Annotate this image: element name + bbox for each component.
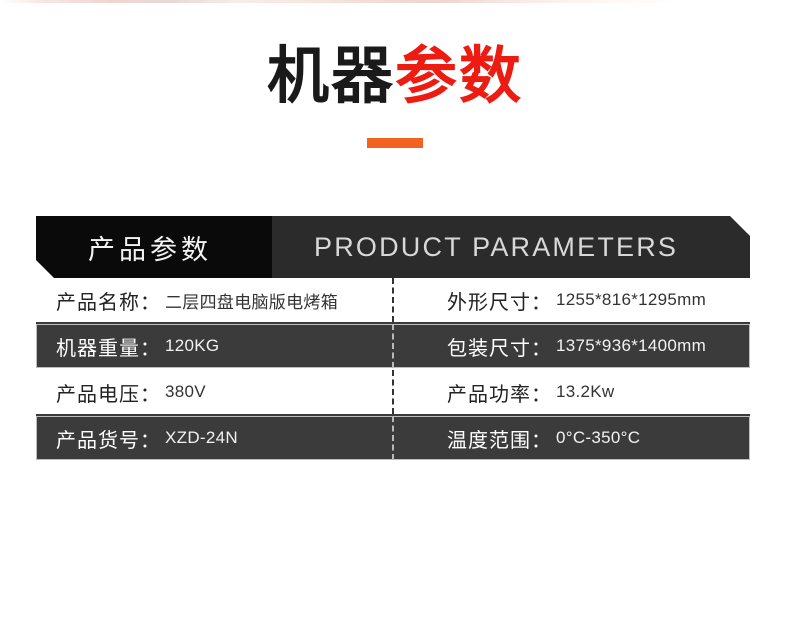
spec-table: 产品名称： 二层四盘电脑版电烤箱 外形尺寸： 1255*816*1295mm 机… bbox=[36, 278, 750, 462]
spec-cell-right: 温度范围： 0°C-350°C bbox=[393, 416, 750, 460]
title-underline-bar bbox=[367, 138, 423, 148]
spec-value: 120KG bbox=[165, 336, 219, 356]
spec-label: 包装尺寸： bbox=[447, 332, 552, 361]
banner-left-label: 产品参数 bbox=[88, 228, 212, 267]
banner-left-panel: 产品参数 bbox=[36, 216, 272, 278]
column-divider bbox=[392, 278, 394, 322]
spec-label: 产品功率： bbox=[447, 378, 552, 407]
banner-right-label: PRODUCT PARAMETERS bbox=[314, 232, 678, 263]
table-row: 产品名称： 二层四盘电脑版电烤箱 外形尺寸： 1255*816*1295mm bbox=[36, 278, 750, 324]
table-row: 产品货号： XZD-24N 温度范围： 0°C-350°C bbox=[36, 416, 750, 462]
top-edge-sliver bbox=[0, 0, 790, 3]
column-divider bbox=[392, 416, 394, 460]
spec-cell-right: 外形尺寸： 1255*816*1295mm bbox=[393, 278, 750, 322]
page-title-text: 机器参数 bbox=[0, 46, 790, 108]
spec-label: 产品货号： bbox=[56, 424, 161, 453]
spec-label: 外形尺寸： bbox=[447, 286, 552, 315]
page-title: 机器参数 bbox=[0, 46, 790, 148]
spec-label: 机器重量： bbox=[56, 332, 161, 361]
table-row: 产品电压： 380V 产品功率： 13.2Kw bbox=[36, 370, 750, 416]
spec-label: 温度范围： bbox=[447, 424, 552, 453]
spec-cell-left: 产品名称： 二层四盘电脑版电烤箱 bbox=[36, 278, 393, 322]
section-banner: 产品参数 PRODUCT PARAMETERS bbox=[36, 216, 750, 278]
spec-value: 1255*816*1295mm bbox=[556, 290, 706, 310]
spec-cell-left: 产品货号： XZD-24N bbox=[36, 416, 393, 460]
spec-value: XZD-24N bbox=[165, 428, 238, 448]
spec-cell-right: 包装尺寸： 1375*936*1400mm bbox=[393, 324, 750, 368]
spec-value: 二层四盘电脑版电烤箱 bbox=[165, 288, 338, 313]
spec-value: 13.2Kw bbox=[556, 382, 615, 402]
page-title-dark-part: 机器 bbox=[267, 42, 395, 111]
table-row: 机器重量： 120KG 包装尺寸： 1375*936*1400mm bbox=[36, 324, 750, 370]
column-divider bbox=[392, 370, 394, 414]
spec-label: 产品名称： bbox=[56, 286, 161, 315]
page-title-red-part: 参数 bbox=[395, 42, 523, 111]
spec-cell-right: 产品功率： 13.2Kw bbox=[393, 370, 750, 414]
column-divider bbox=[392, 324, 394, 368]
banner-right-panel: PRODUCT PARAMETERS bbox=[272, 216, 750, 278]
spec-label: 产品电压： bbox=[56, 378, 161, 407]
spec-cell-left: 机器重量： 120KG bbox=[36, 324, 393, 368]
spec-value: 0°C-350°C bbox=[556, 428, 640, 448]
spec-cell-left: 产品电压： 380V bbox=[36, 370, 393, 414]
spec-value: 1375*936*1400mm bbox=[556, 336, 706, 356]
spec-value: 380V bbox=[165, 382, 206, 402]
